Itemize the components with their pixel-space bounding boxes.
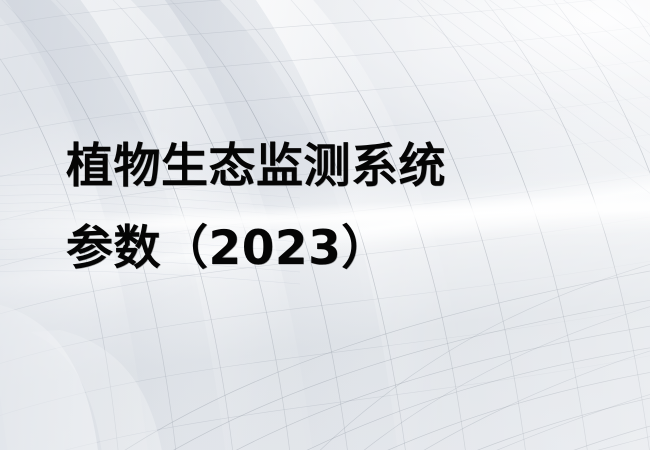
title-line-1: 植物生态监测系统 <box>66 126 586 208</box>
title-slide: 植物生态监测系统 参数（2023） <box>0 0 650 450</box>
title-line-2: 参数（2023） <box>66 208 586 290</box>
slide-title: 植物生态监测系统 参数（2023） <box>66 126 586 290</box>
